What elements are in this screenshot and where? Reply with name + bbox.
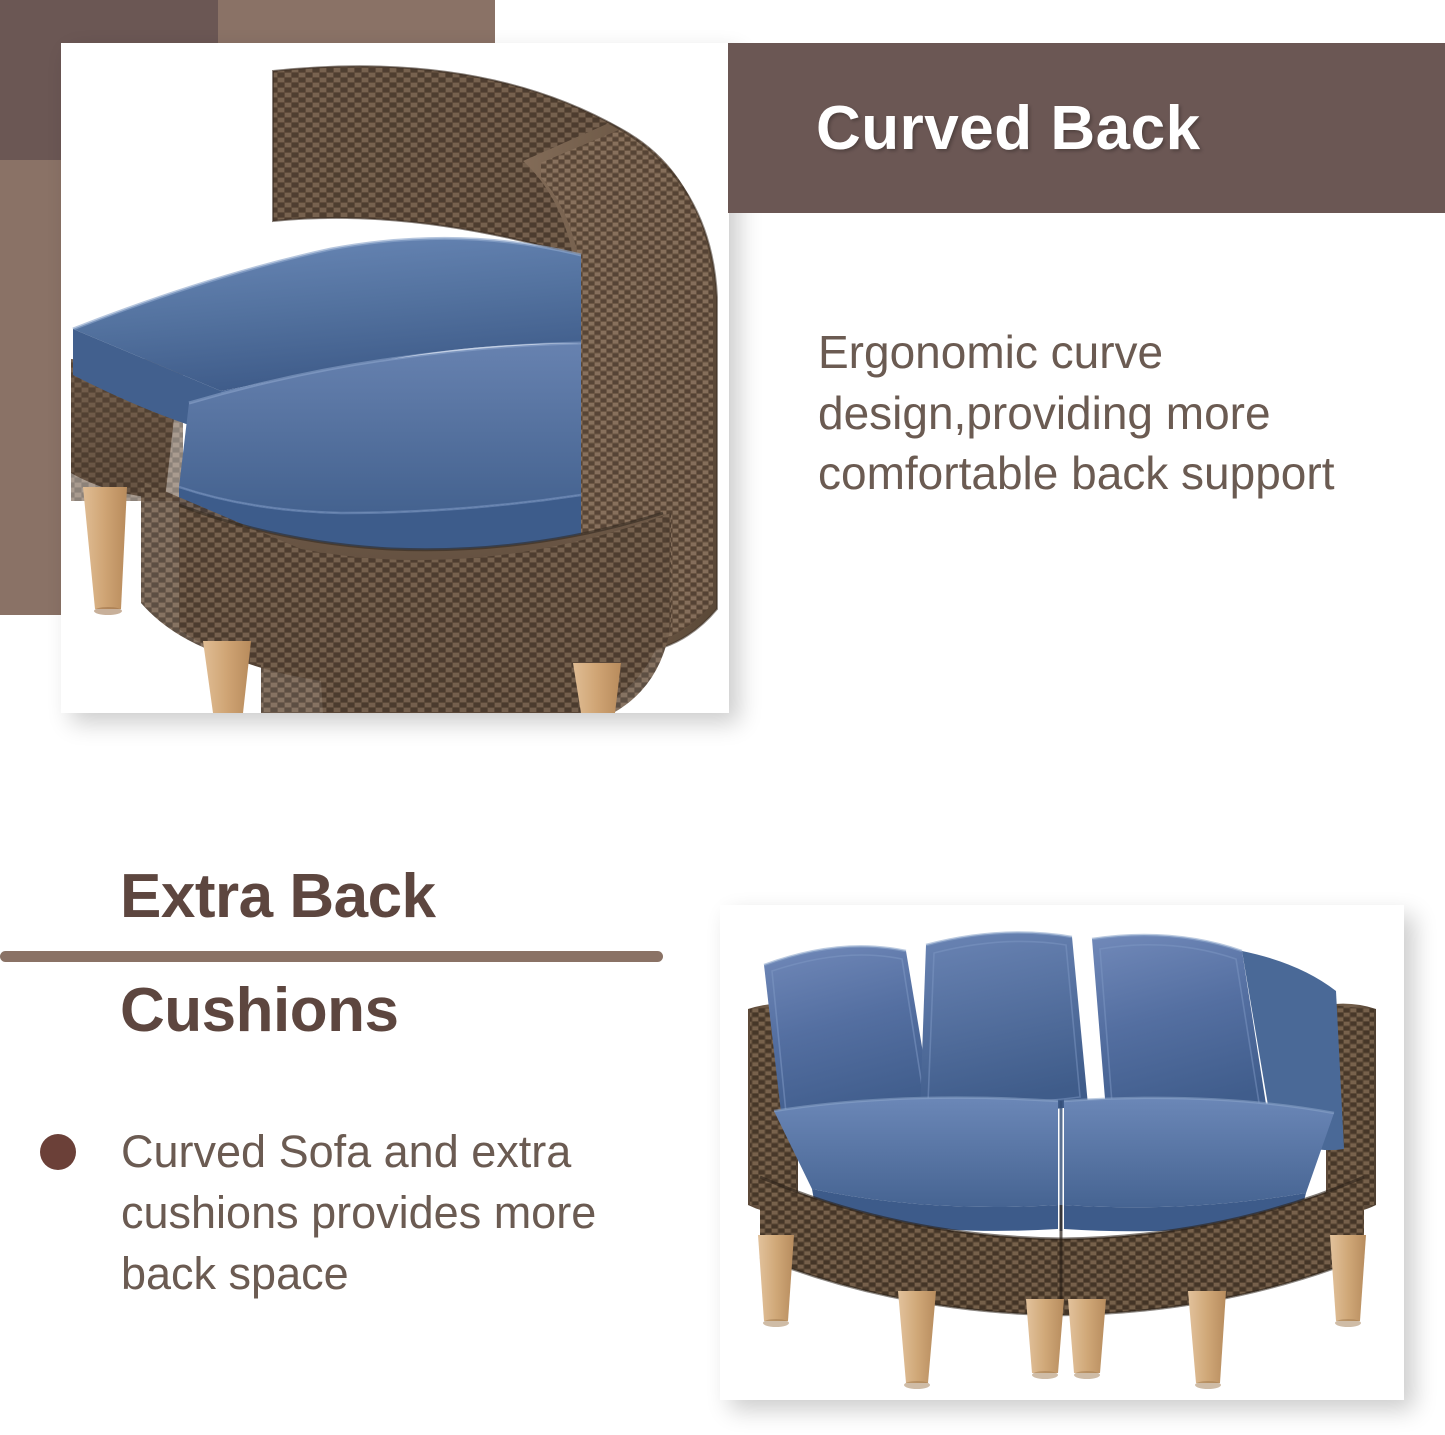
bullet-dot-icon	[40, 1134, 76, 1170]
curved-back-header-band: Curved Back	[728, 43, 1445, 213]
extra-back-heading-line2: Cushions	[120, 975, 398, 1046]
infographic-stage: Curved Back Ergonomic curve design,provi…	[0, 0, 1445, 1435]
tan-accent-top-bar	[218, 0, 495, 43]
curved-back-description: Ergonomic curve design,providing more co…	[818, 322, 1418, 504]
curved-sofa-photo	[720, 905, 1404, 1400]
curved-back-chair-photo	[61, 43, 729, 713]
feature-bullet-item: Curved Sofa and extra cushions provides …	[40, 1122, 660, 1304]
section-title-curved-back: Curved Back	[816, 93, 1201, 164]
feature-bullet-text: Curved Sofa and extra cushions provides …	[121, 1122, 660, 1304]
heading-divider-rule	[0, 951, 663, 962]
extra-back-heading-line1: Extra Back	[120, 861, 436, 932]
